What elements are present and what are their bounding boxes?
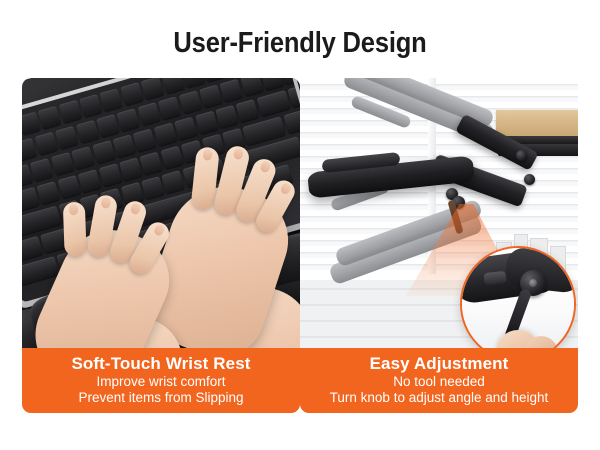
fingernail bbox=[130, 202, 142, 215]
caption-line: No tool needed bbox=[300, 374, 578, 390]
fingernail bbox=[279, 182, 292, 196]
caption-bar-wrist-rest: Soft-Touch Wrist Rest Improve wrist comf… bbox=[22, 348, 300, 413]
desk-board bbox=[496, 110, 578, 136]
easy-adjustment-photo bbox=[300, 78, 578, 348]
page-title: User-Friendly Design bbox=[36, 26, 564, 60]
pivot-bolt bbox=[524, 174, 535, 185]
caption-line: Turn knob to adjust angle and height bbox=[300, 390, 578, 406]
keyboard-scene bbox=[22, 78, 300, 348]
feature-card-easy-adjustment: Easy Adjustment No tool needed Turn knob… bbox=[300, 78, 578, 413]
caption-line: Prevent items from Slipping bbox=[22, 390, 300, 406]
fingernail bbox=[259, 160, 271, 174]
caption-line: Improve wrist comfort bbox=[22, 374, 300, 390]
caption-title: Easy Adjustment bbox=[300, 353, 578, 374]
infographic-page: User-Friendly Design bbox=[0, 0, 600, 450]
wrist-rest-photo bbox=[22, 78, 300, 348]
fingernail bbox=[101, 197, 112, 209]
finger bbox=[63, 202, 87, 257]
fingernail bbox=[69, 204, 78, 215]
pivot-bolt bbox=[516, 150, 527, 161]
bracket-scene bbox=[300, 78, 578, 348]
magnified-release-tab bbox=[483, 271, 506, 285]
fingernail bbox=[153, 223, 166, 237]
fingernail bbox=[203, 149, 213, 161]
fingernail bbox=[233, 147, 244, 160]
magnifier-callout bbox=[460, 246, 576, 348]
feature-card-wrist-rest: Soft-Touch Wrist Rest Improve wrist comf… bbox=[22, 78, 300, 413]
caption-bar-easy-adjustment: Easy Adjustment No tool needed Turn knob… bbox=[300, 348, 578, 413]
caption-title: Soft-Touch Wrist Rest bbox=[22, 353, 300, 374]
